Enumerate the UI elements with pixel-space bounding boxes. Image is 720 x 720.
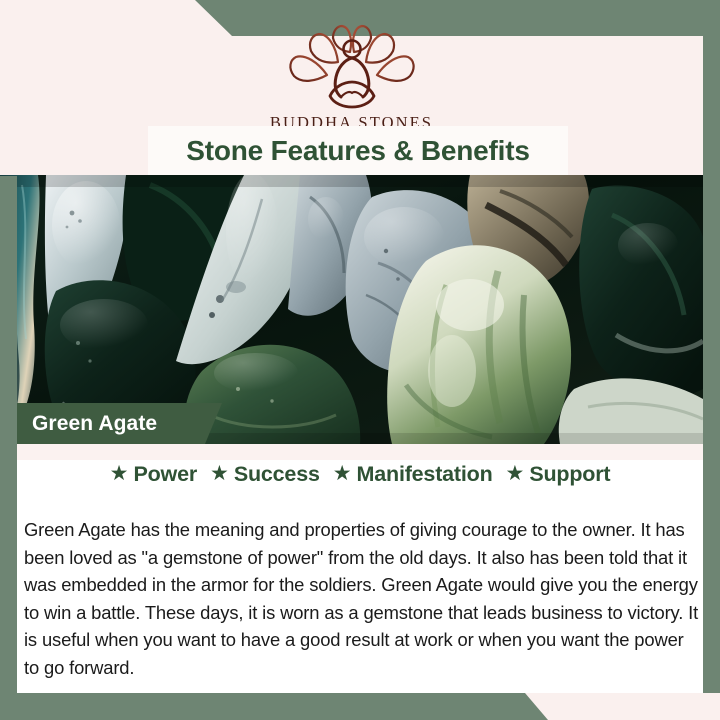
frame-border-left [0,176,17,693]
benefit-item: ★ Power [110,462,197,487]
benefit-label: Manifestation [357,462,493,487]
content-panel: ★ Power ★ Success ★ Manifestation ★ Supp… [17,444,703,693]
lotus-meditation-icon [0,24,703,110]
star-icon: ★ [333,463,352,484]
star-icon: ★ [506,463,525,484]
benefits-row: ★ Power ★ Success ★ Manifestation ★ Supp… [17,462,703,487]
star-icon: ★ [110,463,129,484]
brand-logo: BUDDHA STONES [0,24,703,133]
frame-border-right [703,0,720,693]
page-title-box: Stone Features & Benefits [148,126,568,176]
page-title: Stone Features & Benefits [186,135,530,167]
header-section: BUDDHA STONES Stone Features & Benefits [0,0,720,176]
benefit-item: ★ Manifestation [333,462,493,487]
stone-name: Green Agate [32,412,157,436]
stone-name-banner: Green Agate [0,403,222,444]
frame-border-bottom-green [0,693,548,720]
benefit-label: Power [133,462,197,487]
stone-description: Green Agate has the meaning and properti… [24,516,700,681]
star-icon: ★ [210,463,229,484]
stone-features-infographic: BUDDHA STONES Stone Features & Benefits [0,0,720,720]
benefit-item: ★ Support [506,462,611,487]
benefit-label: Support [529,462,610,487]
content-top-tint [17,444,703,460]
benefit-item: ★ Success [210,462,320,487]
benefit-label: Success [234,462,320,487]
